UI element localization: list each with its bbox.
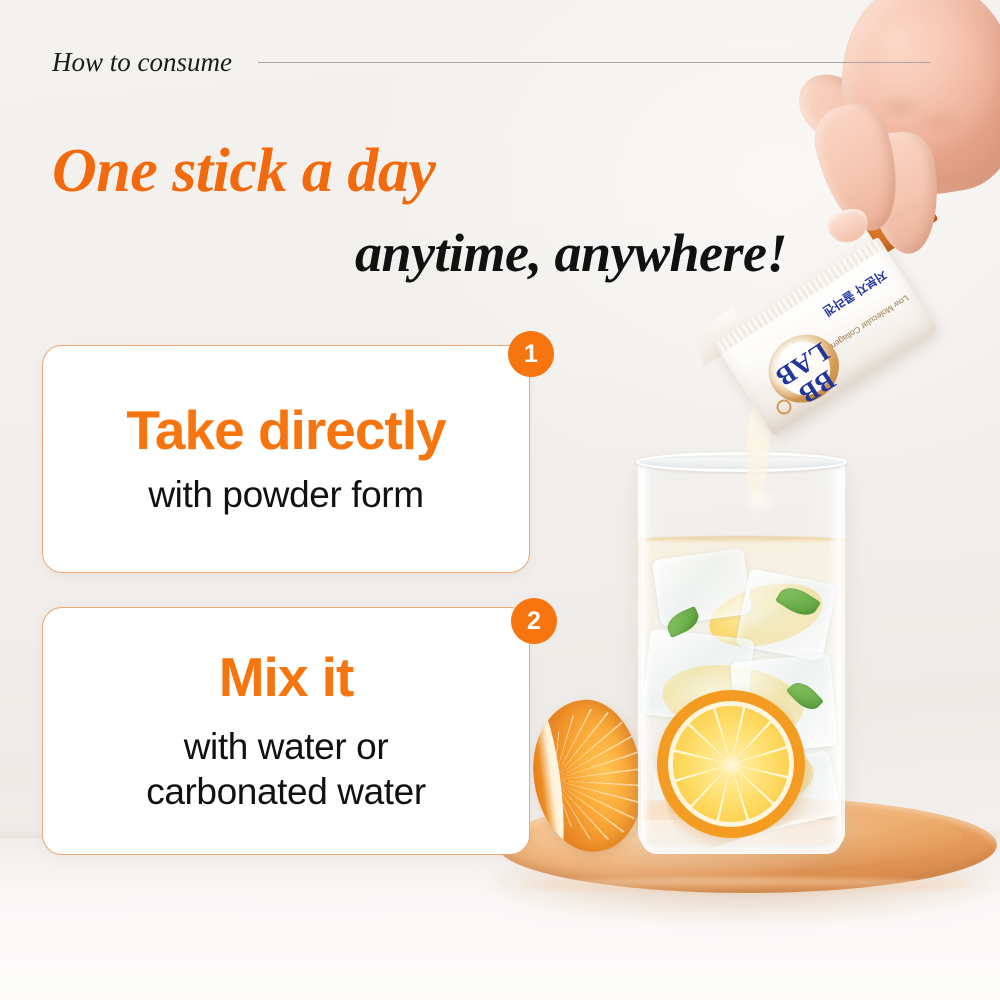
step-card-2-content: Mix it with water or carbonated water: [43, 608, 529, 854]
page-title: How to consume: [52, 47, 232, 78]
headline-line-1: One stick a day: [52, 140, 435, 202]
step-2-subtitle-line-1: with water or: [184, 726, 389, 767]
step-card-1[interactable]: Take directly with powder form: [42, 345, 530, 573]
step-card-2[interactable]: Mix it with water or carbonated water: [42, 607, 530, 855]
headline-line-2: anytime, anywhere!: [0, 226, 787, 280]
step-2-title: Mix it: [219, 648, 354, 706]
section-header: How to consume: [52, 40, 1000, 84]
step-1-badge: 1: [508, 331, 554, 377]
step-2-subtitle: with water or carbonated water: [146, 724, 426, 814]
step-2-subtitle-line-2: carbonated water: [146, 771, 426, 812]
infographic-content: How to consume One stick a day anytime, …: [0, 0, 1000, 1000]
step-card-1-content: Take directly with powder form: [43, 346, 529, 572]
step-1-subtitle: with powder form: [148, 472, 423, 517]
header-rule: [258, 62, 930, 63]
step-2-badge: 2: [511, 598, 557, 644]
step-1-title: Take directly: [126, 401, 445, 459]
